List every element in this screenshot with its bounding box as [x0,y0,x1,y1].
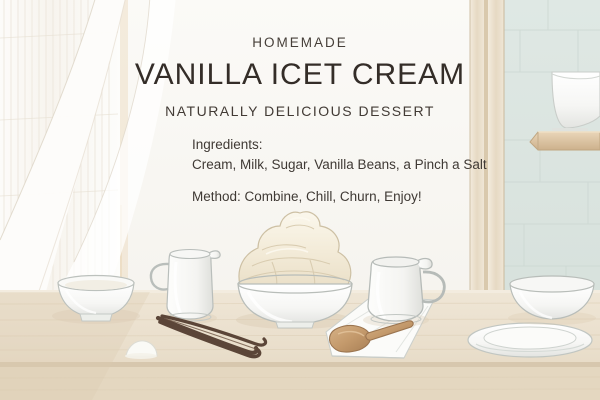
small-pitcher-rim [170,250,210,259]
milk-pitcher-rim [373,257,419,267]
sugar-bowl-group [52,276,140,325]
ice-cream-bowl-foot [276,322,314,328]
window-frame-posts [470,0,504,296]
shelf-bowl [552,72,600,128]
shelf-bowl-foot [552,128,588,131]
recipe-illustration-scene: HOMEMADE VANILLA ICET CREAM NATURALLY DE… [0,0,600,400]
sugar-bowl-foot [80,314,112,321]
far-right-bowl-rim [510,276,594,292]
wooden-wall-shelf [530,132,600,150]
scene-artwork [0,0,600,400]
sugar-in-bowl [65,280,127,290]
far-right-bowl-group [508,276,596,325]
plate-inner-ring [484,327,576,349]
plate-group [468,323,592,357]
sugar-pile-base [125,353,157,359]
